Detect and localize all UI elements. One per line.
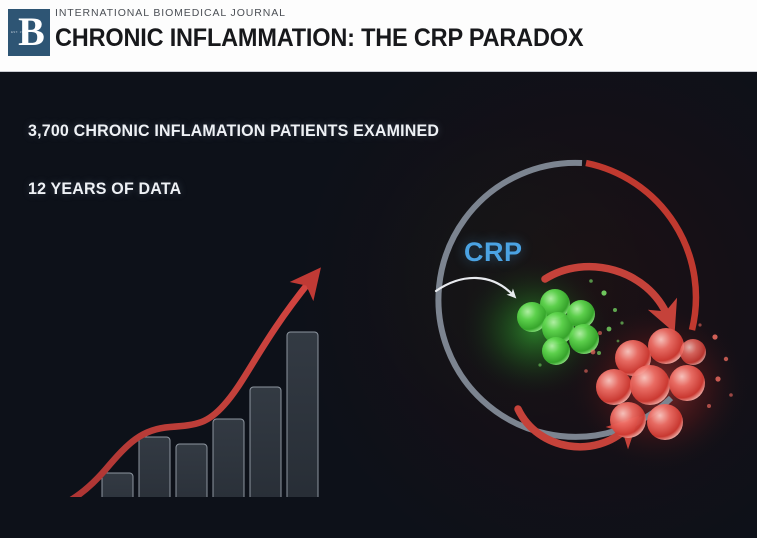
stat-patients: 3,700 CHRONIC INFLAMATION PATIENTS EXAMI… [28,122,439,141]
journal-name: INTERNATIONAL BIOMEDICAL JOURNAL [55,7,286,19]
bar-4 [176,444,207,497]
crp-cycle-svg [400,147,757,487]
logo-letter: B [18,12,44,52]
bar-chart-svg: 10 10 10 20 30 45 30 190 [10,197,355,497]
journal-logo: EST. 1946 B [8,9,50,56]
page-title: CHRONIC INFLAMMATION: THE CRP PARADOX [55,24,583,53]
crp-cycle-diagram: CRP [400,147,757,487]
bar-chart: 10 10 10 20 30 45 30 190 [10,197,355,497]
bar-6 [250,387,281,497]
bar-2 [102,473,133,497]
page-header: EST. 1946 B INTERNATIONAL BIOMEDICAL JOU… [0,0,757,72]
crp-label: CRP [464,237,523,268]
bar-7 [287,332,318,497]
bar-3 [139,437,170,497]
bar-group [28,332,318,497]
bar-5 [213,419,244,497]
infographic-page: EST. 1946 B INTERNATIONAL BIOMEDICAL JOU… [0,0,757,538]
content-stage: 3,700 CHRONIC INFLAMATION PATIENTS EXAMI… [0,72,757,538]
